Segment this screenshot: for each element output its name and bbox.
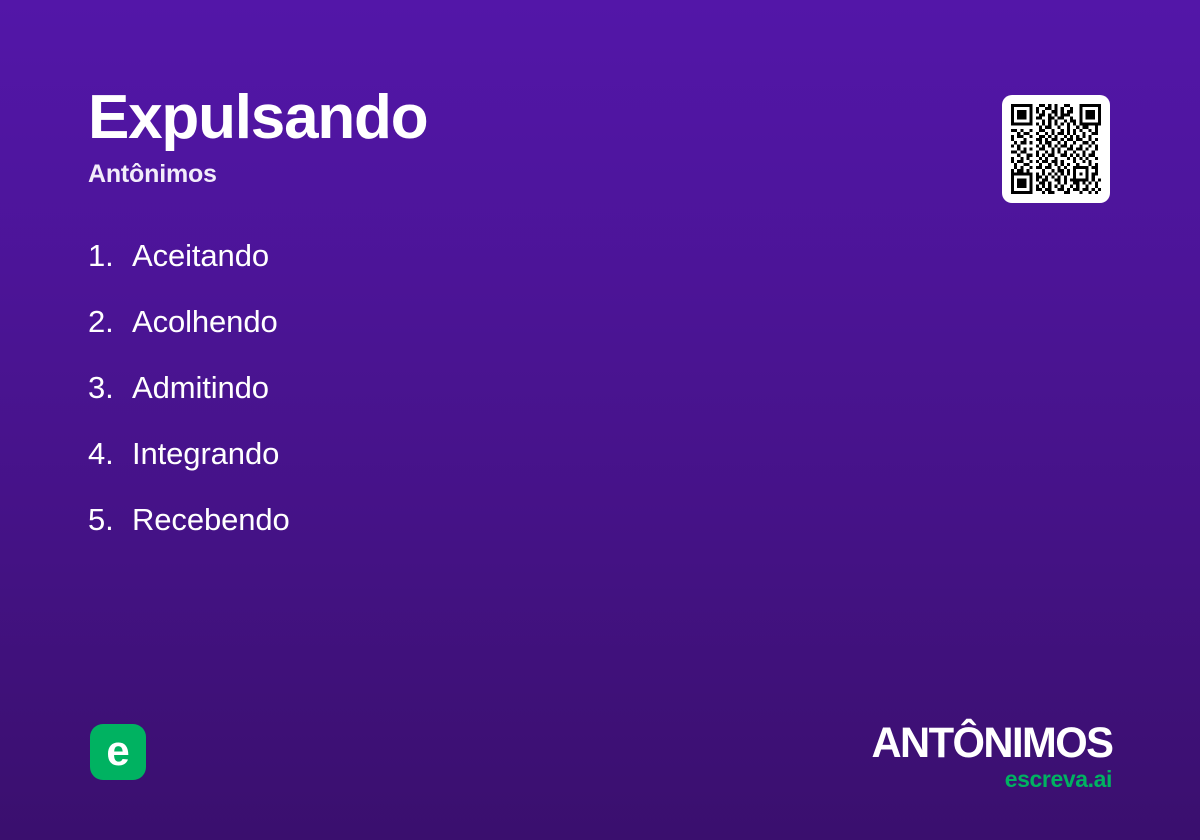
escreva-logo-badge[interactable]: e <box>90 724 146 780</box>
list-item-label: Integrando <box>132 436 279 472</box>
card-header: Expulsando Antônimos <box>88 86 928 189</box>
list-item-label: Recebendo <box>132 502 290 538</box>
list-item-index: 4. <box>88 436 132 472</box>
list-item-label: Aceitando <box>132 238 269 274</box>
page-title: Expulsando <box>88 86 928 149</box>
list-item-index: 5. <box>88 502 132 538</box>
list-item-index: 3. <box>88 370 132 406</box>
list-item: 1. Aceitando <box>88 238 868 304</box>
list-item: 4. Integrando <box>88 436 868 502</box>
wordmark-domain: escreva.ai <box>864 768 1112 791</box>
list-item-index: 2. <box>88 304 132 340</box>
brand-badge-letter: e <box>106 730 129 772</box>
list-item: 3. Admitindo <box>88 370 868 436</box>
list-item: 2. Acolhendo <box>88 304 868 370</box>
list-item: 5. Recebendo <box>88 502 868 568</box>
qr-code-icon[interactable] <box>1002 95 1110 203</box>
list-item-label: Acolhendo <box>132 304 278 340</box>
list-item-label: Admitindo <box>132 370 269 406</box>
card-subtitle: Antônimos <box>88 161 928 189</box>
list-item-index: 1. <box>88 238 132 274</box>
antonyms-list: 1. Aceitando 2. Acolhendo 3. Admitindo 4… <box>88 238 868 568</box>
antonyms-card: Expulsando Antônimos 1. Aceitando 2. Aco… <box>0 0 1200 840</box>
wordmark: ANTÔNIMOS escreva.ai <box>864 722 1112 791</box>
wordmark-title: ANTÔNIMOS <box>871 722 1112 765</box>
